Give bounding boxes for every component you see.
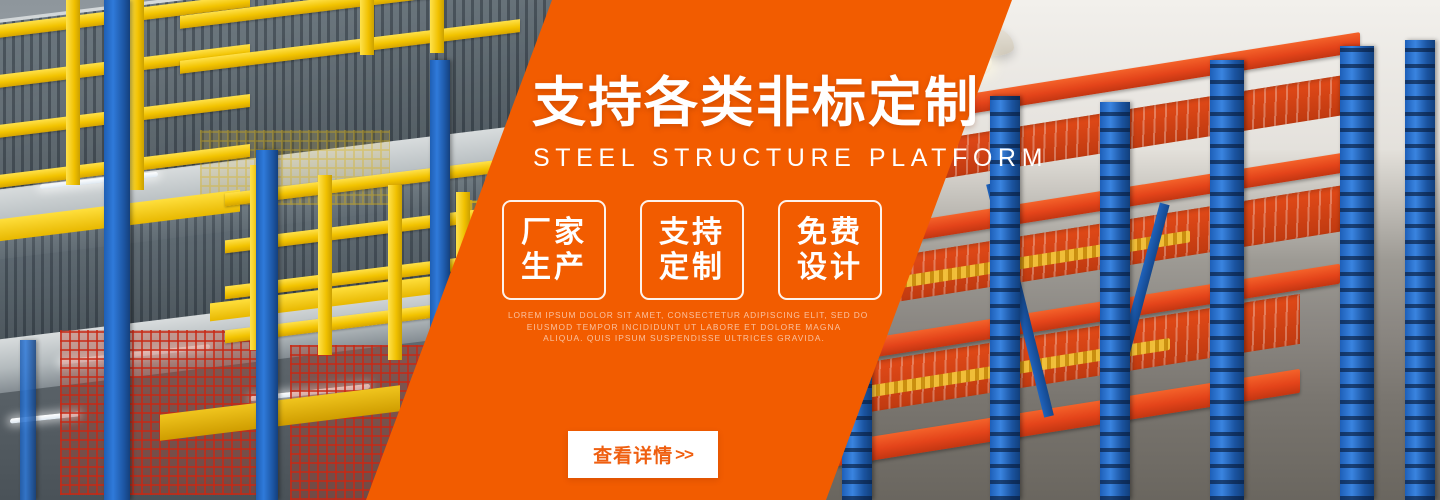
badge-line-1: 支持 (659, 215, 725, 250)
badge-line-1: 厂家 (521, 215, 587, 250)
lorem-paragraph: LOREM IPSUM DOLOR SIT AMET, CONSECTETUR … (508, 310, 860, 345)
view-details-label: 查看详情 (593, 441, 673, 468)
lorem-line-1: LOREM IPSUM DOLOR SIT AMET, CONSECTETUR … (508, 310, 860, 322)
promo-banner: 支持各类非标定制 STEEL STRUCTURE PLATFORM 厂家 生产 … (0, 0, 1440, 500)
banner-content: 支持各类非标定制 STEEL STRUCTURE PLATFORM 厂家 生产 … (0, 0, 1440, 500)
badge-line-1: 免费 (797, 215, 863, 250)
lorem-line-3: ALIQUA. QUIS IPSUM SUSPENDISSE ULTRICES … (508, 333, 860, 345)
badge-line-2: 定制 (659, 250, 725, 285)
page-title: 支持各类非标定制 (532, 76, 980, 130)
feature-badges: 厂家 生产 支持 定制 免费 设计 (502, 200, 882, 300)
double-chevron-right-icon: >> (675, 445, 693, 465)
badge-manufacturer: 厂家 生产 (502, 200, 606, 300)
badge-free-design: 免费 设计 (778, 200, 882, 300)
subtitle: STEEL STRUCTURE PLATFORM (533, 144, 1048, 173)
badge-custom-support: 支持 定制 (640, 200, 744, 300)
badge-line-2: 设计 (797, 250, 863, 285)
view-details-button[interactable]: 查看详情 >> (568, 431, 718, 478)
badge-line-2: 生产 (521, 250, 587, 285)
lorem-line-2: EIUSMOD TEMPOR INCIDIDUNT UT LABORE ET D… (508, 322, 860, 334)
